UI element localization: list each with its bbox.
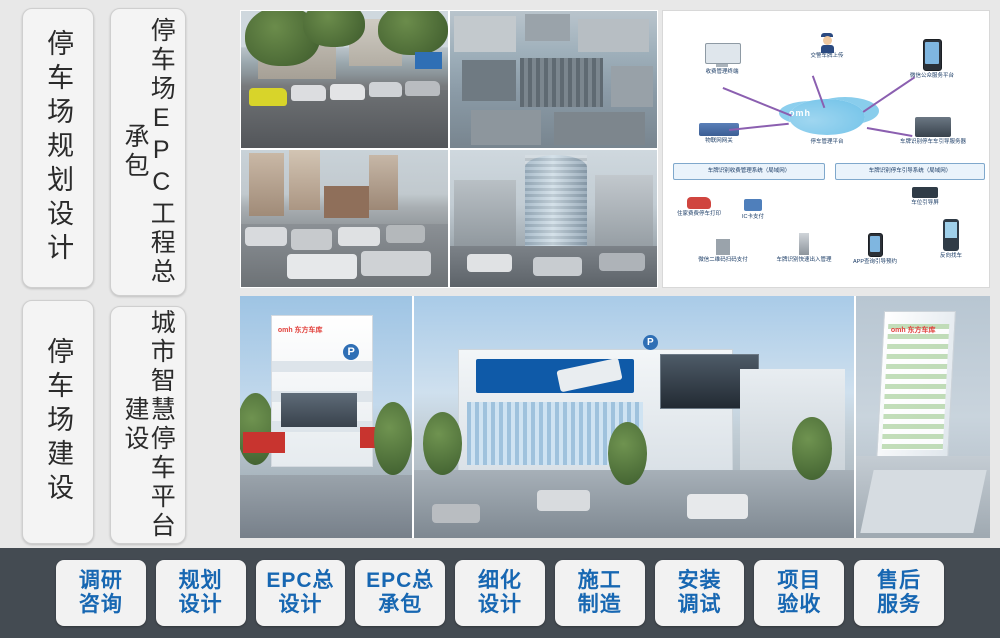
photo-car [369, 82, 402, 97]
render-tree [240, 393, 274, 466]
card-planning-design-label: 停车场规划设计 [44, 29, 72, 267]
photo-car [386, 225, 425, 243]
server-icon [915, 117, 951, 137]
photo-car [330, 84, 365, 100]
photo-parking-lot [520, 58, 603, 107]
render-car [687, 494, 749, 518]
photo-side-building [454, 180, 516, 249]
render-tree [608, 422, 648, 485]
monitor-icon [705, 43, 739, 69]
parking-guidance-screen-node: 车位引导屏 [895, 187, 955, 207]
plate-guidance-system-box: 车牌识别停车引导系统（局域网） [835, 163, 985, 180]
wechat-qr-payment-node: 微信二维码扫码支付 [691, 239, 755, 264]
step-epc-general-contract[interactable]: EPC总承包 [355, 560, 445, 626]
card-epc-general-contracting[interactable]: 停车场EPC工程总承包 [110, 8, 186, 296]
step-planning-design[interactable]: 规划设计 [156, 560, 246, 626]
glass-tower-photo [450, 150, 657, 287]
parking-tower-render: omh 东方车库 P [240, 296, 412, 538]
step-after-sales-service-label: 售后服务 [877, 569, 921, 617]
render-car [432, 504, 480, 523]
ic-card-payment-node: IC卡支付 [731, 199, 775, 221]
photo-tree [378, 11, 448, 55]
left-category-column: 停车场规划设计 停车场EPC工程总承包 停车场建设 城市智慧停车平台建设 [0, 0, 200, 548]
car-icon [687, 197, 711, 209]
step-project-acceptance-label: 项目验收 [777, 569, 821, 617]
photo-car [533, 257, 583, 276]
render-led-screen [281, 393, 357, 427]
resident-parking-card-node: 住家费费停车打印 [669, 197, 729, 218]
step-epc-general-contract-label: EPC总承包 [366, 569, 434, 617]
render-tree [423, 412, 463, 475]
connector-arrow [863, 76, 915, 112]
photo-tower [369, 155, 398, 210]
plate-recognition-guidance-server-node: 车牌识别停车车引导服务器 [885, 117, 981, 146]
system-architecture-diagram: omh 收费管理终端 交警车牌上传 微信公众服务平台 物联网网关 停车管理平台 … [662, 10, 990, 288]
photo-car [599, 253, 645, 271]
render-banner [476, 359, 634, 393]
parking-management-platform-node: 停车管理平台 [787, 139, 867, 146]
plate-fast-entry-label: 车牌识别快速出入管理 [771, 257, 837, 264]
step-construction-manufacture[interactable]: 施工制造 [555, 560, 645, 626]
step-planning-design-label: 规划设计 [179, 569, 223, 617]
kiosk-icon [943, 219, 959, 251]
card-parking-construction-label: 停车场建设 [44, 337, 72, 507]
plate-fast-entry-node: 车牌识别快速出入管理 [771, 233, 837, 264]
plate-charge-system-label: 车牌识别收费管理系统（局域网） [708, 168, 791, 174]
ic-card-icon [744, 199, 762, 211]
step-installation-debugging[interactable]: 安装调试 [655, 560, 745, 626]
step-after-sales-service[interactable]: 售后服务 [854, 560, 944, 626]
render-logo: omh 东方车库 [278, 325, 323, 335]
photo-block [471, 110, 541, 146]
charge-management-terminal-label: 收费管理终端 [687, 69, 757, 76]
render-building [271, 315, 373, 467]
police-officer-icon [820, 33, 834, 51]
wechat-public-platform-node: 微信公众服务平台 [891, 39, 973, 80]
photo-car [338, 227, 379, 246]
photo-car [467, 254, 513, 272]
step-installation-debugging-label: 安装调试 [678, 569, 722, 617]
step-research-consulting[interactable]: 调研咨询 [56, 560, 146, 626]
photo-car [249, 88, 286, 106]
photo-block [611, 66, 652, 107]
ic-card-payment-label: IC卡支付 [731, 214, 775, 221]
photo-block [525, 14, 571, 41]
card-smart-city-platform-label: 城市智慧停车平台建设 [122, 307, 175, 543]
street-parking-photo [241, 11, 448, 148]
photo-lowrise [324, 186, 370, 219]
aerial-tower-render: omh 东方车库 [856, 296, 990, 538]
photo-tree [303, 11, 365, 47]
render-tree [792, 417, 832, 480]
card-smart-city-platform[interactable]: 城市智慧停车平台建设 [110, 306, 186, 544]
resident-parking-card-label: 住家费费停车打印 [669, 211, 729, 218]
photo-side-building [595, 175, 653, 249]
step-construction-manufacture-label: 施工制造 [578, 569, 622, 617]
aerial-city-photo [450, 11, 657, 148]
card-planning-design[interactable]: 停车场规划设计 [22, 8, 94, 288]
parking-complex-render: P [414, 296, 854, 538]
render-plaza [860, 470, 986, 533]
wechat-qr-payment-label: 微信二维码扫码支付 [691, 257, 755, 264]
step-epc-overall-design[interactable]: EPC总设计 [256, 560, 346, 626]
connector-arrow [723, 87, 792, 116]
photo-tower [249, 153, 284, 216]
guidance-screen-icon [912, 187, 938, 198]
cloud-label: omh [789, 108, 865, 118]
step-project-acceptance[interactable]: 项目验收 [754, 560, 844, 626]
project-photo-grid [240, 10, 658, 288]
parking-guidance-screen-label: 车位引导屏 [895, 200, 955, 207]
smartphone-icon [923, 39, 942, 71]
project-render-row: omh 东方车库 P P omh 东方车库 [240, 296, 990, 538]
photo-block [578, 19, 648, 52]
photo-block [554, 112, 645, 145]
qr-scanner-icon [716, 239, 730, 255]
app-phone-icon [868, 233, 883, 257]
card-epc-general-contracting-label: 停车场EPC工程总承包 [122, 9, 175, 295]
reverse-car-finding-label: 反向找车 [925, 253, 977, 260]
reverse-car-finding-node: 反向找车 [925, 219, 977, 260]
process-step-bar: 调研咨询 规划设计 EPC总设计 EPC总承包 细化设计 施工制造 安装调试 项… [0, 548, 1000, 638]
parking-badge: P [643, 335, 658, 350]
photo-car [291, 85, 326, 101]
plate-charge-system-box: 车牌识别收费管理系统（局域网） [673, 163, 825, 180]
traffic-police-upload-node: 交警车牌上传 [789, 33, 865, 60]
render-logo: omh 东方车库 [891, 325, 936, 335]
photo-car [287, 254, 357, 279]
photo-car [245, 227, 286, 246]
residential-parking-photo [241, 150, 448, 287]
app-query-guide-label: APP查询引导预约 [843, 259, 907, 266]
photo-car [405, 81, 440, 96]
step-epc-overall-design-label: EPC总设计 [266, 569, 334, 617]
photo-block [454, 16, 516, 52]
photo-car [291, 229, 332, 250]
cloud-icon: omh [789, 99, 865, 135]
render-sign [243, 432, 284, 454]
card-parking-construction[interactable]: 停车场建设 [22, 300, 94, 544]
render-ground [240, 475, 412, 538]
photo-glass-tower [525, 155, 587, 245]
photo-block [462, 60, 516, 101]
app-query-guide-node: APP查询引导预约 [843, 233, 907, 266]
render-car [537, 490, 590, 512]
iot-gateway-label: 物联网网关 [681, 138, 757, 145]
photo-car [361, 251, 431, 276]
traffic-police-upload-label: 交警车牌上传 [789, 53, 865, 60]
step-detailed-design-label: 细化设计 [478, 569, 522, 617]
charge-management-terminal-node: 收费管理终端 [687, 43, 757, 76]
photo-tower [289, 150, 320, 210]
render-tree [374, 402, 412, 475]
step-detailed-design[interactable]: 细化设计 [455, 560, 545, 626]
barrier-gate-icon [799, 233, 809, 255]
photo-billboard [415, 52, 442, 68]
wechat-public-platform-label: 微信公众服务平台 [891, 73, 973, 80]
plate-guidance-system-label: 车牌识别停车引导系统（局域网） [869, 168, 952, 174]
parking-management-platform-label: 停车管理平台 [787, 139, 867, 146]
step-research-consulting-label: 调研咨询 [79, 569, 123, 617]
plate-recognition-guidance-server-label: 车牌识别停车车引导服务器 [885, 139, 981, 146]
